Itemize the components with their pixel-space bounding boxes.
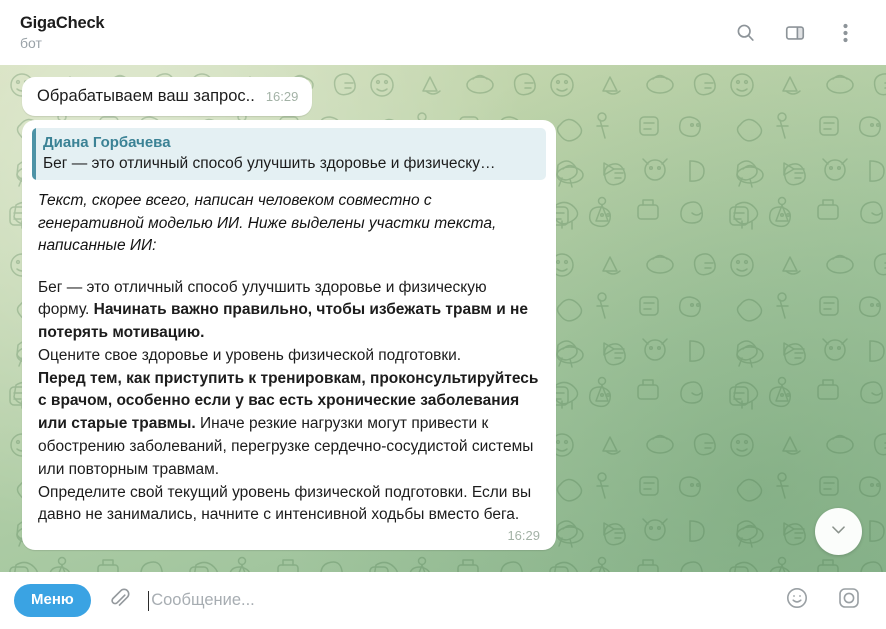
paperclip-icon <box>108 587 131 615</box>
header-actions <box>728 16 872 50</box>
chat-message-area[interactable]: Обрабатываем ваш запрос.. 16:29 Диана Го… <box>0 65 886 572</box>
search-button[interactable] <box>728 16 762 50</box>
message-verdict-text: Текст, скорее всего, написан человеком с… <box>32 180 546 258</box>
scroll-to-bottom-button[interactable] <box>815 508 862 555</box>
human-text-span: Определите свой текущий уровень физическ… <box>38 484 531 524</box>
message-input-bar: Меню Сообщение... <box>0 572 886 629</box>
message-input-field[interactable]: Сообщение... <box>135 590 782 611</box>
emoji-button[interactable] <box>782 586 812 616</box>
message-bubble-result[interactable]: Диана Горбачева Бег — это отличный спосо… <box>22 120 556 550</box>
message-timestamp: 16:29 <box>507 528 540 543</box>
attach-button[interactable] <box>105 586 135 616</box>
chat-header-titles[interactable]: GigaCheck бот <box>20 13 728 53</box>
search-icon <box>735 22 756 43</box>
menu-button[interactable]: Меню <box>14 584 91 617</box>
chat-subtitle: бот <box>20 34 728 53</box>
chevron-down-icon <box>829 520 848 544</box>
camera-icon <box>837 586 861 615</box>
message-analysis-body: Бег — это отличный способ улучшить здоро… <box>32 258 546 528</box>
message-footer: 16:29 <box>32 527 546 543</box>
text-caret <box>148 591 150 611</box>
chat-header: GigaCheck бот <box>0 0 886 65</box>
message-input-placeholder: Сообщение... <box>151 590 255 611</box>
sidebar-toggle-icon <box>784 22 806 44</box>
chat-title: GigaCheck <box>20 13 728 33</box>
camera-button[interactable] <box>834 586 864 616</box>
ai-highlighted-span: Начинать важно правильно, чтобы избежать… <box>38 301 528 341</box>
smiley-icon <box>785 586 809 615</box>
more-menu-button[interactable] <box>828 16 862 50</box>
reply-quote-text: Бег — это отличный способ улучшить здоро… <box>43 153 538 174</box>
more-menu-icon <box>843 23 848 43</box>
message-timestamp: 16:29 <box>266 89 299 104</box>
message-bubble-status[interactable]: Обрабатываем ваш запрос.. 16:29 <box>22 77 312 116</box>
sidebar-toggle-button[interactable] <box>778 16 812 50</box>
human-text-span: Оцените свое здоровье и уровень физическ… <box>38 347 461 364</box>
message-text: Обрабатываем ваш запрос.. <box>37 86 255 107</box>
input-right-actions <box>782 586 868 616</box>
reply-quote[interactable]: Диана Горбачева Бег — это отличный спосо… <box>32 128 546 180</box>
reply-quote-author: Диана Горбачева <box>43 133 538 153</box>
telegram-chat-window: GigaCheck бот <box>0 0 886 629</box>
